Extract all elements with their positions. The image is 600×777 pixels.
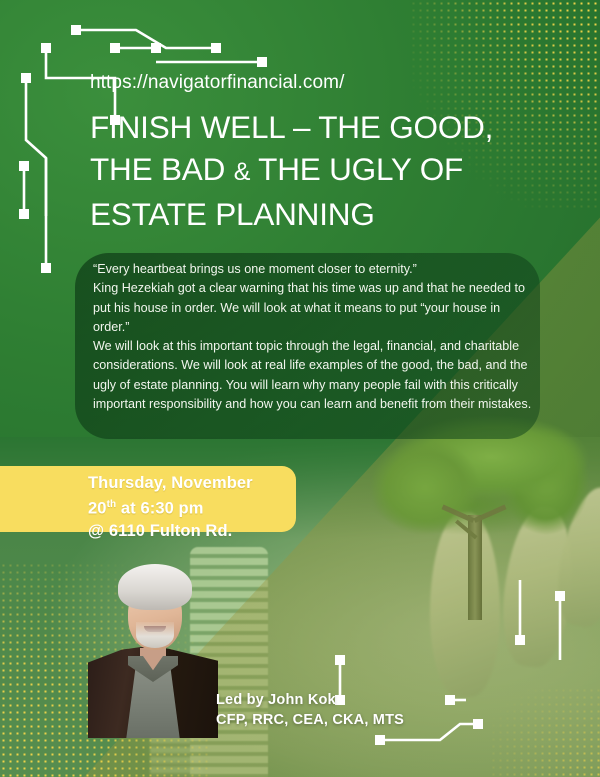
- presenter-credentials: CFP, RRC, CEA, CKA, MTS: [216, 712, 404, 728]
- title-line-3: ESTATE PLANNING: [90, 196, 375, 232]
- portrait-beard: [136, 622, 174, 648]
- event-date-suffix: th: [107, 499, 117, 510]
- poster-title: FINISH WELL – THE GOOD, THE BAD & THE UG…: [90, 106, 510, 235]
- description-paragraph-1: “Every heartbeat brings us one moment cl…: [93, 260, 533, 279]
- event-date-number: 20: [88, 500, 107, 518]
- title-line-1: FINISH WELL – THE GOOD,: [90, 109, 493, 145]
- presenter-name: Led by John Kok: [216, 692, 336, 708]
- portrait-hair: [118, 564, 192, 610]
- title-line-2a: THE BAD: [90, 151, 234, 187]
- event-details-text: Thursday, November 20th at 6:30 pm @ 611…: [88, 472, 318, 542]
- poster-content: https://navigatorfinancial.com/ FINISH W…: [0, 0, 600, 777]
- title-ampersand: &: [234, 158, 250, 186]
- description-paragraph-3: We will look at this important topic thr…: [93, 337, 533, 414]
- presenter-photo: [88, 548, 218, 738]
- event-day: Thursday, November: [88, 474, 253, 492]
- presenter-credit: Led by John Kok CFP, RRC, CEA, CKA, MTS: [216, 690, 404, 730]
- description-text: “Every heartbeat brings us one moment cl…: [93, 260, 533, 414]
- website-url[interactable]: https://navigatorfinancial.com/: [90, 72, 344, 94]
- event-poster: https://navigatorfinancial.com/ FINISH W…: [0, 0, 600, 777]
- title-line-2b: THE UGLY OF: [250, 151, 463, 187]
- event-time: at 6:30 pm: [116, 500, 203, 518]
- description-paragraph-2: King Hezekiah got a clear warning that h…: [93, 279, 533, 337]
- event-location: @ 6110 Fulton Rd.: [88, 522, 232, 540]
